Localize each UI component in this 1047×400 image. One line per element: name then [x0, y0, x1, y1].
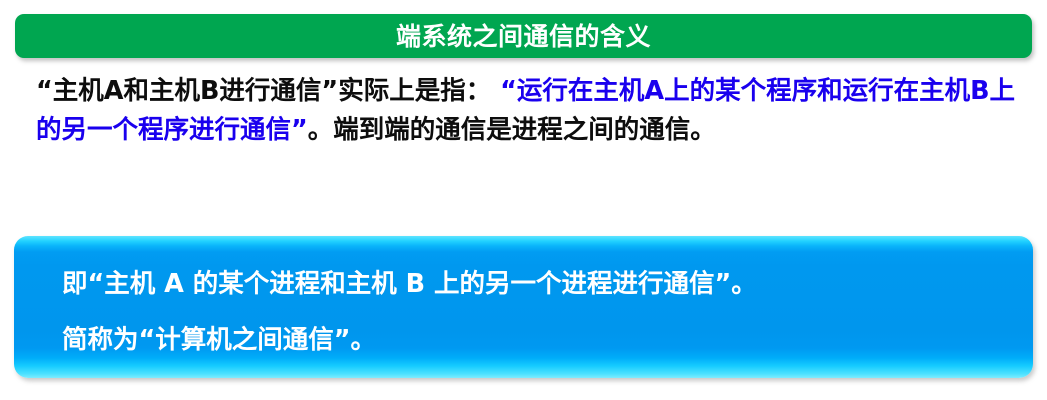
callout-line-2: 简称为“计算机之间通信”。	[62, 312, 1013, 368]
paragraph-segment-black-lead: “主机A和主机B进行通信”实际上是指：	[36, 76, 491, 106]
page-title: 端系统之间通信的含义	[396, 24, 651, 49]
body-paragraph: “主机A和主机B进行通信”实际上是指： “运行在主机A上的某个程序和运行在主机B…	[36, 72, 1036, 150]
callout-line-1: 即“主机 A 的某个进程和主机 B 上的另一个进程进行通信”。	[62, 256, 1013, 312]
slide-canvas: 端系统之间通信的含义 “主机A和主机B进行通信”实际上是指： “运行在主机A上的…	[0, 0, 1047, 400]
paragraph-segment-black-tail: 。端到端的通信是进程之间的通信。	[308, 115, 716, 145]
callout-box-content: 即“主机 A 的某个进程和主机 B 上的另一个进程进行通信”。 简称为“计算机之…	[62, 256, 1013, 368]
callout-box: 即“主机 A 的某个进程和主机 B 上的另一个进程进行通信”。 简称为“计算机之…	[14, 236, 1033, 378]
title-banner: 端系统之间通信的含义	[15, 14, 1032, 58]
